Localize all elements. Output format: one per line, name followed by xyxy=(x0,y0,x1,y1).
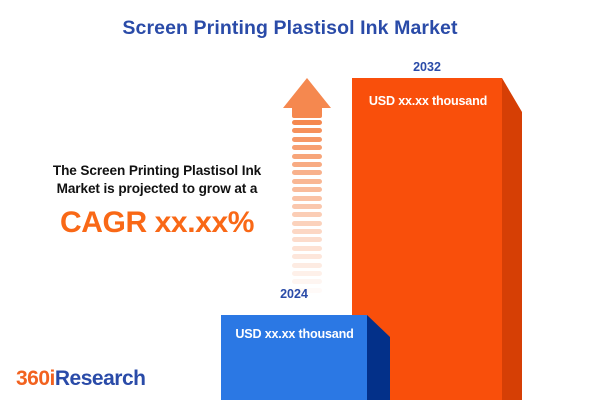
arrow-stripe xyxy=(292,120,322,125)
bar-label-2024: 2024 xyxy=(221,287,367,301)
growth-statement-line1: The Screen Printing Plastisol Ink xyxy=(18,162,296,180)
growth-statement: The Screen Printing Plastisol Ink Market… xyxy=(18,162,296,198)
arrow-stripe xyxy=(292,154,322,159)
arrow-stripe xyxy=(292,179,322,184)
arrow-stripe xyxy=(292,254,322,259)
logo-text-360: 360 xyxy=(16,367,50,390)
logo-text-research: Research xyxy=(55,367,146,390)
arrow-stripe xyxy=(292,145,322,150)
arrow-stripe xyxy=(292,246,322,251)
arrow-stripe xyxy=(292,229,322,234)
arrow-head-icon xyxy=(283,78,331,108)
arrow-stripes xyxy=(292,120,322,293)
brand-logo: 360iResearch xyxy=(16,367,145,391)
arrow-stripe xyxy=(292,271,322,276)
arrow-stripe xyxy=(292,212,322,217)
arrow-stripe xyxy=(292,187,322,192)
up-arrow-icon xyxy=(283,78,331,293)
arrow-stripe xyxy=(292,137,322,142)
arrow-stripe xyxy=(292,170,322,175)
cagr-value: CAGR xx.xx% xyxy=(18,206,296,240)
statement-block: The Screen Printing Plastisol Ink Market… xyxy=(18,162,296,240)
arrow-stripe xyxy=(292,263,322,268)
arrow-stripe xyxy=(292,128,322,133)
bar-2024-side-face xyxy=(367,315,390,400)
arrow-stripe xyxy=(292,162,322,167)
bar-2032-side-face xyxy=(502,78,522,400)
bar-value-2024: USD xx.xx thousand xyxy=(228,327,361,341)
arrow-stripe xyxy=(292,204,322,209)
growth-statement-line2: Market is projected to grow at a xyxy=(18,180,296,198)
arrow-stripe xyxy=(292,279,322,284)
arrow-neck xyxy=(292,107,322,118)
arrow-stripe xyxy=(292,221,322,226)
arrow-stripe xyxy=(292,237,322,242)
page-title: Screen Printing Plastisol Ink Market xyxy=(0,17,580,40)
arrow-stripe xyxy=(292,196,322,201)
bar-value-2032: USD xx.xx thousand xyxy=(360,94,496,108)
bar-label-2032: 2032 xyxy=(352,60,502,74)
infographic-canvas: Screen Printing Plastisol Ink Market The… xyxy=(0,0,600,400)
